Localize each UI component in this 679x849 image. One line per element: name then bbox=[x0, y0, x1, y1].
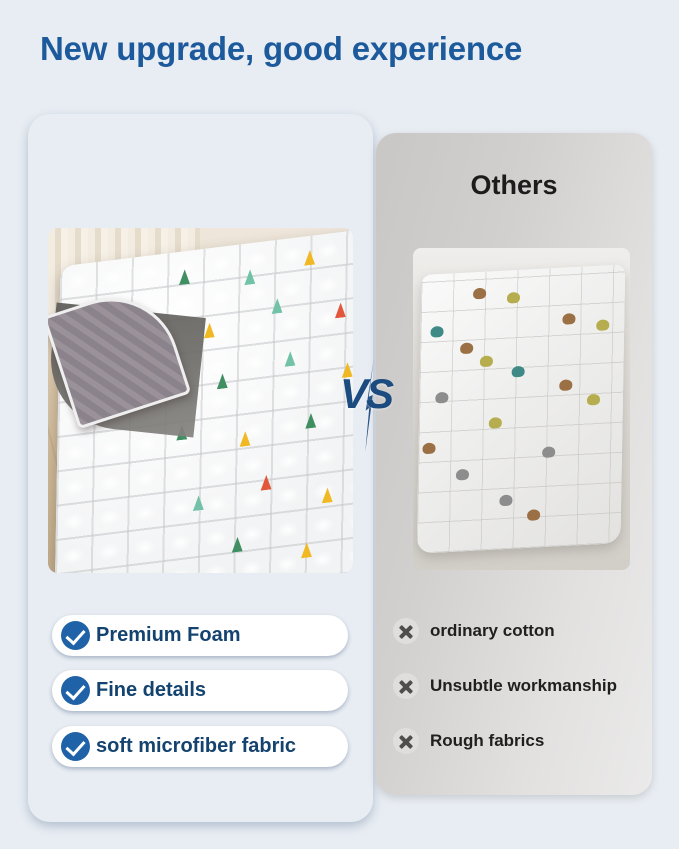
print-motif bbox=[480, 355, 493, 367]
check-circle-icon bbox=[61, 621, 90, 650]
others-product-photo bbox=[413, 248, 630, 570]
quilted-mat bbox=[417, 264, 626, 553]
check-circle-icon bbox=[61, 676, 90, 705]
drawback-rough-fabrics: Rough fabrics bbox=[393, 728, 544, 754]
others-heading: Others bbox=[376, 170, 652, 201]
print-motif bbox=[460, 342, 473, 354]
print-motif bbox=[596, 319, 609, 331]
drawback-unsubtle-workmanship: Unsubtle workmanship bbox=[393, 673, 617, 699]
print-motif bbox=[430, 326, 443, 338]
x-circle-icon bbox=[393, 728, 419, 754]
check-circle-icon bbox=[61, 732, 90, 761]
ours-product-photo bbox=[48, 228, 353, 573]
print-motif bbox=[542, 446, 555, 458]
ours-panel: Ours bbox=[28, 114, 373, 822]
drawback-label: ordinary cotton bbox=[430, 621, 555, 641]
feature-label: Fine details bbox=[96, 679, 206, 702]
print-motif bbox=[527, 509, 540, 521]
print-motif bbox=[422, 443, 435, 455]
vs-badge: VS bbox=[340, 366, 406, 446]
print-motif bbox=[562, 313, 575, 325]
feature-label: soft microfiber fabric bbox=[96, 735, 296, 758]
print-motif bbox=[435, 392, 448, 404]
x-circle-icon bbox=[393, 673, 419, 699]
print-motif bbox=[473, 288, 486, 300]
drawback-label: Unsubtle workmanship bbox=[430, 676, 617, 696]
drawback-label: Rough fabrics bbox=[430, 731, 544, 751]
print-motif bbox=[559, 379, 572, 391]
print-motif bbox=[489, 417, 502, 429]
feature-label: Premium Foam bbox=[96, 624, 240, 647]
print-motif bbox=[456, 469, 469, 481]
feature-pill-soft-microfiber-fabric[interactable]: soft microfiber fabric bbox=[52, 726, 348, 767]
feature-pill-premium-foam[interactable]: Premium Foam bbox=[52, 615, 348, 656]
print-motif bbox=[507, 292, 520, 304]
drawback-ordinary-cotton: ordinary cotton bbox=[393, 618, 555, 644]
print-motif bbox=[587, 394, 600, 406]
page-title: New upgrade, good experience bbox=[40, 30, 522, 68]
feature-pill-fine-details[interactable]: Fine details bbox=[52, 670, 348, 711]
x-circle-icon bbox=[393, 618, 419, 644]
quilt-pattern bbox=[417, 264, 626, 553]
others-panel: Others ordinary cotton bbox=[376, 133, 652, 795]
print-motif bbox=[499, 495, 512, 507]
print-motif bbox=[512, 366, 525, 378]
vs-label: VS bbox=[340, 370, 392, 418]
